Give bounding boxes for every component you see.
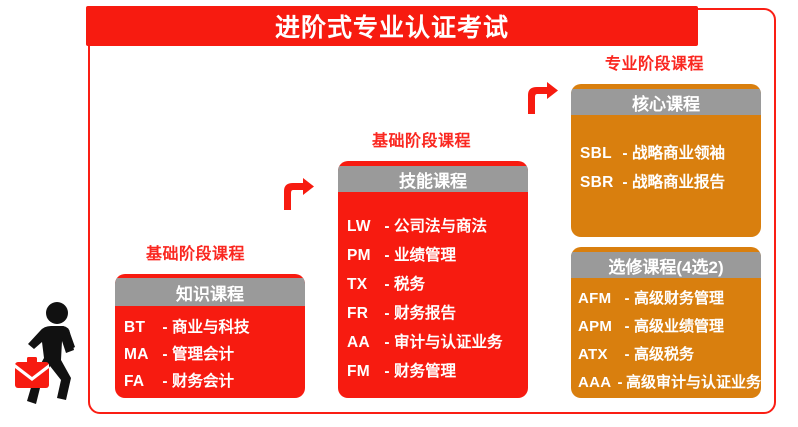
course-row: LW - 公司法与商法	[347, 212, 528, 241]
course-card-elective[interactable]: 选修课程(4选2) AFM - 高级财务管理 APM - 高级业绩管理 ATX …	[571, 247, 761, 398]
card-body-knowledge: BT - 商业与科技 MA - 管理会计 FA - 财务会计	[115, 306, 305, 395]
diagram-canvas: 进阶式专业认证考试 基础阶段课程 基础阶段课程 专业阶段课程 知识课程 BT -…	[0, 0, 798, 427]
course-name: 税务	[394, 277, 425, 293]
course-row: ATX - 高级税务	[578, 340, 761, 368]
course-code: AA	[347, 335, 380, 351]
course-code: APM	[578, 319, 620, 334]
course-code: FR	[347, 306, 380, 322]
course-dash: -	[614, 375, 626, 390]
course-dash: -	[380, 277, 394, 293]
course-name: 管理会计	[172, 347, 234, 363]
course-row: APM - 高级业绩管理	[578, 312, 761, 340]
course-name: 高级业绩管理	[634, 319, 724, 334]
course-name: 高级财务管理	[634, 291, 724, 306]
title-banner: 进阶式专业认证考试	[86, 6, 698, 46]
course-name: 业绩管理	[394, 248, 456, 264]
course-name: 财务会计	[172, 374, 234, 390]
card-body-core: SBL - 战略商业领袖 SBR - 战略商业报告	[571, 115, 761, 197]
course-name: 公司法与商法	[394, 219, 487, 235]
course-dash: -	[380, 335, 394, 351]
course-name: 审计与认证业务	[394, 335, 503, 351]
course-card-core[interactable]: 核心课程 SBL - 战略商业领袖 SBR - 战略商业报告	[571, 84, 761, 237]
course-code: PM	[347, 248, 380, 264]
stage-label-foundation-skills: 基础阶段课程	[372, 127, 471, 151]
course-row: SBR - 战略商业报告	[580, 168, 761, 197]
card-body-skills: LW - 公司法与商法 PM - 业绩管理 TX - 税务 FR - 财务报告 …	[338, 192, 528, 386]
course-name: 高级审计与认证业务	[626, 375, 761, 390]
walking-person-with-briefcase-icon	[14, 300, 86, 408]
course-row: AA - 审计与认证业务	[347, 328, 528, 357]
stage-label-professional: 专业阶段课程	[605, 50, 704, 74]
page-title: 进阶式专业认证考试	[275, 8, 509, 44]
course-dash: -	[618, 146, 632, 162]
course-row: FA - 财务会计	[124, 368, 305, 395]
card-header-skills: 技能课程	[338, 166, 528, 192]
course-code: SBL	[580, 146, 618, 162]
card-header-core: 核心课程	[571, 89, 761, 115]
course-code: ATX	[578, 347, 620, 362]
course-row: FM - 财务管理	[347, 357, 528, 386]
course-name: 商业与科技	[172, 320, 250, 336]
course-code: SBR	[580, 175, 618, 191]
course-name: 战略商业领袖	[632, 146, 725, 162]
course-name: 战略商业报告	[632, 175, 725, 191]
course-name: 财务报告	[394, 306, 456, 322]
course-code: FM	[347, 364, 380, 380]
course-card-knowledge[interactable]: 知识课程 BT - 商业与科技 MA - 管理会计 FA - 财务会计	[115, 274, 305, 398]
course-code: LW	[347, 219, 380, 235]
course-code: AAA	[578, 375, 614, 390]
course-row: AAA - 高级审计与认证业务	[578, 368, 761, 396]
course-code: AFM	[578, 291, 620, 306]
course-row: FR - 财务报告	[347, 299, 528, 328]
course-code: BT	[124, 320, 158, 336]
card-header-knowledge: 知识课程	[115, 278, 305, 306]
stage-label-foundation-knowledge: 基础阶段课程	[146, 240, 245, 264]
course-name: 财务管理	[394, 364, 456, 380]
course-card-skills[interactable]: 技能课程 LW - 公司法与商法 PM - 业绩管理 TX - 税务 FR - …	[338, 161, 528, 398]
course-code: MA	[124, 347, 158, 363]
course-dash: -	[158, 374, 172, 390]
course-row: PM - 业绩管理	[347, 241, 528, 270]
course-dash: -	[158, 320, 172, 336]
course-dash: -	[380, 306, 394, 322]
course-dash: -	[158, 347, 172, 363]
course-row: SBL - 战略商业领袖	[580, 139, 761, 168]
course-dash: -	[618, 175, 632, 191]
course-dash: -	[380, 248, 394, 264]
course-dash: -	[620, 347, 634, 362]
course-dash: -	[380, 219, 394, 235]
curved-arrow-up-right-icon	[281, 178, 315, 212]
course-code: TX	[347, 277, 380, 293]
course-row: BT - 商业与科技	[124, 314, 305, 341]
course-row: MA - 管理会计	[124, 341, 305, 368]
course-row: TX - 税务	[347, 270, 528, 299]
course-dash: -	[620, 291, 634, 306]
course-row: AFM - 高级财务管理	[578, 284, 761, 312]
course-dash: -	[380, 364, 394, 380]
curved-arrow-up-right-icon	[525, 82, 559, 116]
course-name: 高级税务	[634, 347, 694, 362]
course-dash: -	[620, 319, 634, 334]
card-header-elective: 选修课程(4选2)	[571, 252, 761, 278]
card-body-elective: AFM - 高级财务管理 APM - 高级业绩管理 ATX - 高级税务 AAA…	[571, 278, 761, 396]
course-code: FA	[124, 374, 158, 390]
